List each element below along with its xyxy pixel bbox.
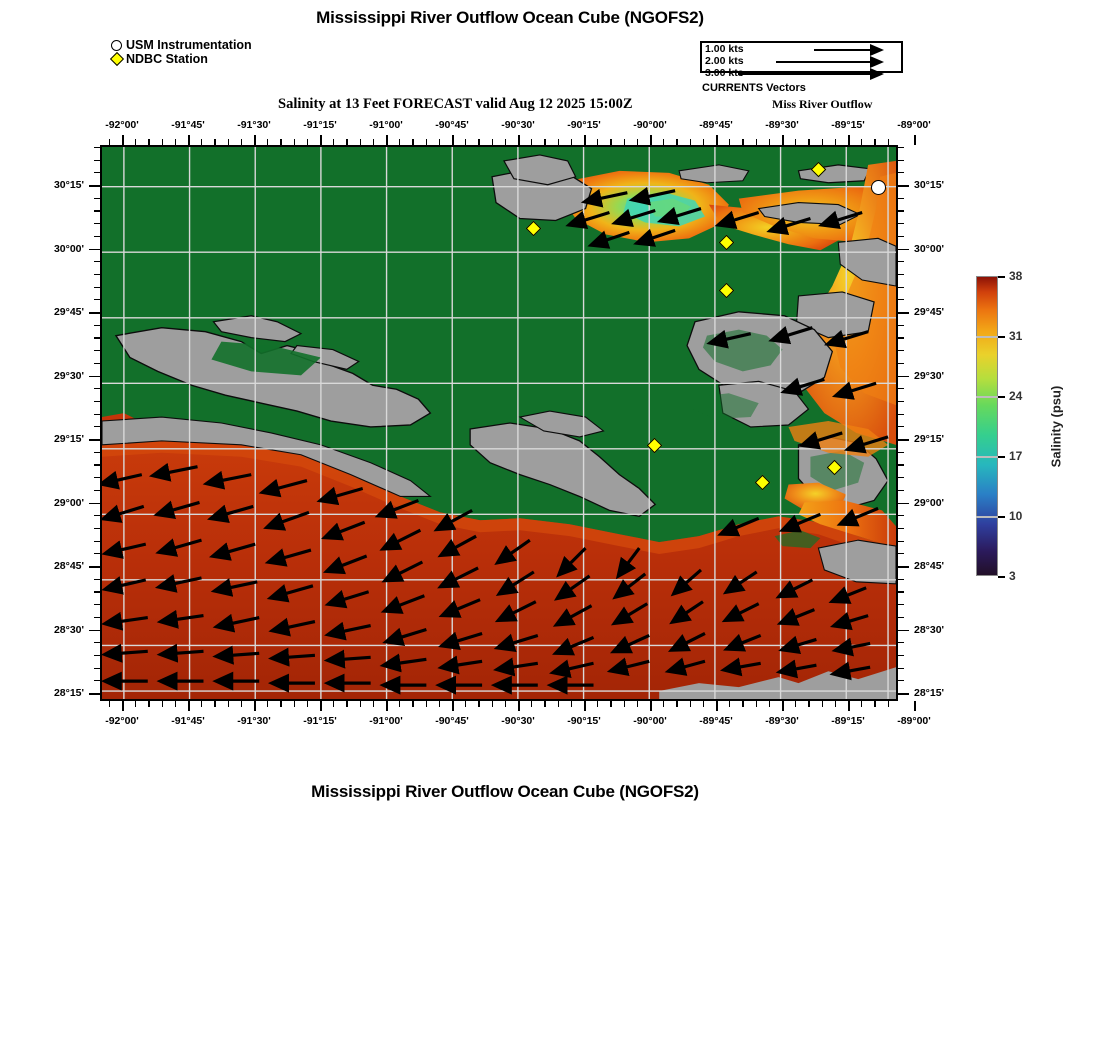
- axis-tick: [89, 439, 100, 441]
- axis-tick: [94, 414, 100, 415]
- axis-tick: [756, 139, 757, 145]
- colorbar-gradient: [976, 276, 998, 576]
- axis-tick: [89, 630, 100, 632]
- axis-tick: [898, 528, 904, 529]
- vector-shaft-1: [814, 49, 870, 51]
- axis-tick: [412, 139, 413, 145]
- axis-tick: [756, 701, 757, 707]
- circle-marker-icon: [110, 40, 123, 51]
- axis-label: -91°45': [171, 715, 205, 727]
- axis-label: -92°00': [105, 119, 139, 131]
- axis-tick: [558, 701, 559, 707]
- axis-tick: [94, 401, 100, 402]
- axis-tick: [94, 287, 100, 288]
- axis-tick: [898, 147, 904, 148]
- axis-tick: [94, 325, 100, 326]
- colorbar-tick-label: 38: [1009, 269, 1022, 283]
- axis-tick: [898, 642, 904, 643]
- axis-tick: [254, 701, 256, 711]
- axis-tick: [584, 135, 586, 145]
- axis-label: -91°30': [237, 119, 271, 131]
- axis-tick: [399, 701, 400, 707]
- vector-legend-caption: CURRENTS Vectors: [702, 82, 806, 94]
- axis-label: -89°45': [699, 119, 733, 131]
- axis-tick: [94, 490, 100, 491]
- axis-label: -92°00': [105, 715, 139, 727]
- axis-label: -91°00': [369, 715, 403, 727]
- axis-tick: [360, 701, 361, 707]
- axis-tick: [898, 299, 904, 300]
- colorbar-tick-label: 17: [1009, 449, 1022, 463]
- vector-arrowhead-2: [870, 56, 884, 68]
- axis-tick: [888, 139, 889, 145]
- axis-tick: [782, 701, 784, 711]
- axis-tick: [360, 139, 361, 145]
- axis-label: -90°00': [633, 715, 667, 727]
- axis-label: -89°00': [897, 119, 931, 131]
- axis-tick: [544, 139, 545, 145]
- axis-tick: [898, 249, 909, 251]
- axis-tick: [89, 376, 100, 378]
- axis-tick: [373, 701, 374, 707]
- colorbar-tick: [998, 516, 1005, 518]
- axis-tick: [597, 701, 598, 707]
- axis-tick: [320, 701, 322, 711]
- colorbar-tick-label: 3: [1009, 569, 1016, 583]
- axis-label: 28°45': [28, 560, 84, 572]
- axis-tick: [94, 350, 100, 351]
- axis-label: -89°15': [831, 119, 865, 131]
- axis-tick: [148, 139, 149, 145]
- vector-arrowhead-3: [870, 68, 884, 80]
- vector-legend-row-3: 3.00 kts: [702, 69, 901, 79]
- axis-label: -91°00': [369, 119, 403, 131]
- axis-tick: [94, 642, 100, 643]
- axis-tick: [898, 312, 909, 314]
- axis-label: 29°15': [914, 433, 944, 445]
- axis-label: -90°00': [633, 119, 667, 131]
- axis-label: -89°30': [765, 119, 799, 131]
- axis-label: -91°30': [237, 715, 271, 727]
- axis-tick: [89, 185, 100, 187]
- colorbar-tick: [998, 576, 1005, 578]
- axis-tick: [898, 414, 904, 415]
- axis-label: 28°15': [28, 687, 84, 699]
- axis-tick: [571, 701, 572, 707]
- axis-tick: [898, 566, 909, 568]
- axis-tick: [465, 139, 466, 145]
- legend-item-ndbc: NDBC Station: [110, 52, 252, 66]
- axis-tick: [558, 139, 559, 145]
- axis-tick: [188, 701, 190, 711]
- axis-tick: [201, 701, 202, 707]
- axis-tick: [898, 363, 904, 364]
- axis-tick: [94, 617, 100, 618]
- current-vector-legend: 1.00 kts 2.00 kts 3.00 kts: [700, 41, 903, 73]
- axis-tick: [94, 515, 100, 516]
- colorbar-title-text: Salinity (psu): [1049, 385, 1064, 467]
- axis-tick: [214, 139, 215, 145]
- vector-legend-row-1: 1.00 kts: [702, 45, 901, 55]
- axis-tick: [835, 701, 836, 707]
- axis-tick: [241, 139, 242, 145]
- axis-tick: [914, 135, 916, 145]
- axis-label: 29°00': [914, 497, 944, 509]
- axis-tick: [94, 198, 100, 199]
- axis-tick: [898, 198, 904, 199]
- axis-tick: [346, 701, 347, 707]
- axis-tick: [898, 210, 904, 211]
- axis-label: 29°45': [914, 306, 944, 318]
- axis-tick: [294, 701, 295, 707]
- legend-item-usm: USM Instrumentation: [110, 38, 252, 52]
- axis-tick: [716, 135, 718, 145]
- axis-tick: [898, 515, 904, 516]
- axis-tick: [109, 139, 110, 145]
- axis-tick: [267, 701, 268, 707]
- axis-tick: [898, 604, 904, 605]
- vector-shaft-3: [738, 73, 870, 75]
- axis-tick: [782, 135, 784, 145]
- legend-label-ndbc: NDBC Station: [126, 52, 208, 66]
- bottom-title: Mississippi River Outflow Ocean Cube (NG…: [0, 782, 1010, 802]
- axis-tick: [94, 680, 100, 681]
- axis-tick: [610, 701, 611, 707]
- axis-tick: [94, 274, 100, 275]
- colorbar-tick: [998, 396, 1005, 398]
- axis-tick: [898, 630, 909, 632]
- axis-tick: [89, 693, 100, 695]
- axis-label: -91°15': [303, 715, 337, 727]
- axis-tick: [162, 701, 163, 707]
- axis-tick: [898, 388, 904, 389]
- axis-tick: [898, 223, 904, 224]
- chart-subtitle: Salinity at 13 Feet FORECAST valid Aug 1…: [278, 96, 633, 113]
- axis-tick: [898, 464, 904, 465]
- axis-tick: [624, 139, 625, 145]
- axis-tick: [597, 139, 598, 145]
- axis-tick: [89, 566, 100, 568]
- axis-tick: [333, 139, 334, 145]
- axis-tick: [822, 139, 823, 145]
- axis-tick: [109, 701, 110, 707]
- axis-tick: [544, 701, 545, 707]
- axis-label: 28°30': [28, 624, 84, 636]
- axis-tick: [426, 139, 427, 145]
- axis-tick: [94, 541, 100, 542]
- axis-tick: [822, 701, 823, 707]
- axis-tick: [898, 655, 904, 656]
- axis-tick: [452, 701, 454, 711]
- vector-shaft-2: [776, 61, 870, 63]
- axis-tick: [769, 701, 770, 707]
- axis-tick: [571, 139, 572, 145]
- axis-tick: [898, 236, 904, 237]
- axis-tick: [452, 135, 454, 145]
- axis-tick: [861, 139, 862, 145]
- axis-tick: [135, 139, 136, 145]
- axis-tick: [898, 261, 904, 262]
- axis-tick: [742, 139, 743, 145]
- axis-tick: [898, 579, 904, 580]
- axis-tick: [703, 139, 704, 145]
- axis-label: -91°45': [171, 119, 205, 131]
- axis-label: -89°30': [765, 715, 799, 727]
- salinity-field-canvas: [102, 147, 896, 699]
- axis-tick: [94, 655, 100, 656]
- axis-tick: [89, 503, 100, 505]
- axis-label: 30°15': [28, 179, 84, 191]
- axis-tick: [94, 668, 100, 669]
- axis-tick: [518, 135, 520, 145]
- axis-tick: [307, 139, 308, 145]
- colorbar-gridline: [976, 396, 998, 398]
- axis-tick: [663, 701, 664, 707]
- axis-tick: [898, 591, 904, 592]
- axis-tick: [254, 135, 256, 145]
- page-title: Mississippi River Outflow Ocean Cube (NG…: [0, 8, 1020, 28]
- axis-tick: [650, 701, 652, 711]
- axis-tick: [874, 139, 875, 145]
- axis-tick: [898, 617, 904, 618]
- axis-tick: [478, 139, 479, 145]
- axis-label: -90°30': [501, 715, 535, 727]
- axis-tick: [294, 139, 295, 145]
- axis-tick: [465, 701, 466, 707]
- vector-legend-label-1: 1.00 kts: [705, 44, 744, 55]
- axis-tick: [94, 452, 100, 453]
- axis-tick: [690, 139, 691, 145]
- diamond-marker-icon: [110, 54, 123, 64]
- axis-tick: [898, 160, 904, 161]
- axis-tick: [94, 223, 100, 224]
- axis-tick: [690, 701, 691, 707]
- axis-tick: [148, 701, 149, 707]
- axis-label: -90°15': [567, 715, 601, 727]
- axis-tick: [518, 701, 520, 711]
- axis-tick: [228, 139, 229, 145]
- map-plot-area[interactable]: [100, 145, 898, 701]
- vector-legend-row-2: 2.00 kts: [702, 57, 901, 67]
- axis-tick: [848, 135, 850, 145]
- axis-tick: [505, 701, 506, 707]
- axis-tick: [584, 701, 586, 711]
- axis-tick: [898, 541, 904, 542]
- axis-tick: [914, 701, 916, 711]
- colorbar-tick-label: 10: [1009, 509, 1022, 523]
- axis-tick: [373, 139, 374, 145]
- axis-label: -89°45': [699, 715, 733, 727]
- axis-tick: [94, 261, 100, 262]
- axis-label: 30°00': [28, 243, 84, 255]
- axis-label: 30°15': [914, 179, 944, 191]
- axis-tick: [898, 274, 904, 275]
- axis-tick: [94, 591, 100, 592]
- axis-tick: [703, 701, 704, 707]
- axis-tick: [898, 401, 904, 402]
- axis-tick: [729, 701, 730, 707]
- axis-tick: [94, 388, 100, 389]
- colorbar-tick-label: 24: [1009, 389, 1022, 403]
- vector-legend-label-2: 2.00 kts: [705, 56, 744, 67]
- legend-label-usm: USM Instrumentation: [126, 38, 252, 52]
- axis-tick: [637, 701, 638, 707]
- axis-tick: [888, 701, 889, 707]
- axis-tick: [531, 701, 532, 707]
- axis-tick: [795, 701, 796, 707]
- axis-tick: [898, 452, 904, 453]
- axis-label: -89°00': [897, 715, 931, 727]
- axis-tick: [505, 139, 506, 145]
- axis-tick: [898, 680, 904, 681]
- axis-tick: [94, 579, 100, 580]
- axis-tick: [898, 337, 904, 338]
- axis-tick: [386, 135, 388, 145]
- axis-tick: [188, 135, 190, 145]
- axis-tick: [162, 139, 163, 145]
- axis-tick: [94, 147, 100, 148]
- axis-label: 29°45': [28, 306, 84, 318]
- axis-tick: [94, 337, 100, 338]
- axis-tick: [412, 701, 413, 707]
- axis-tick: [898, 426, 904, 427]
- axis-tick: [676, 139, 677, 145]
- axis-tick: [898, 693, 909, 695]
- axis-tick: [135, 701, 136, 707]
- axis-tick: [898, 350, 904, 351]
- axis-tick: [795, 139, 796, 145]
- axis-tick: [624, 701, 625, 707]
- axis-label: 29°15': [28, 433, 84, 445]
- axis-tick: [94, 464, 100, 465]
- axis-tick: [94, 553, 100, 554]
- axis-tick: [716, 701, 718, 711]
- axis-tick: [610, 139, 611, 145]
- axis-tick: [280, 139, 281, 145]
- axis-tick: [280, 701, 281, 707]
- axis-tick: [399, 139, 400, 145]
- axis-tick: [122, 135, 124, 145]
- colorbar-gridline: [976, 456, 998, 458]
- axis-label: -91°15': [303, 119, 337, 131]
- axis-label: 29°00': [28, 497, 84, 509]
- product-label: Miss River Outflow: [772, 97, 872, 112]
- axis-tick: [439, 139, 440, 145]
- axis-tick: [386, 701, 388, 711]
- axis-label: 30°00': [914, 243, 944, 255]
- axis-tick: [333, 701, 334, 707]
- axis-tick: [848, 701, 850, 711]
- axis-label: 28°45': [914, 560, 944, 572]
- axis-tick: [175, 701, 176, 707]
- colorbar-gridline: [976, 516, 998, 518]
- axis-tick: [175, 139, 176, 145]
- axis-tick: [267, 139, 268, 145]
- axis-tick: [94, 172, 100, 173]
- axis-tick: [94, 160, 100, 161]
- axis-tick: [769, 139, 770, 145]
- axis-label: -90°15': [567, 119, 601, 131]
- axis-tick: [94, 363, 100, 364]
- axis-tick: [898, 172, 904, 173]
- axis-label: -90°45': [435, 715, 469, 727]
- axis-tick: [94, 604, 100, 605]
- axis-tick: [898, 287, 904, 288]
- axis-tick: [808, 139, 809, 145]
- axis-tick: [650, 135, 652, 145]
- axis-tick: [808, 701, 809, 707]
- axis-label: -90°30': [501, 119, 535, 131]
- axis-tick: [122, 701, 124, 711]
- axis-tick: [898, 490, 904, 491]
- axis-tick: [426, 701, 427, 707]
- axis-label: -89°15': [831, 715, 865, 727]
- axis-tick: [307, 701, 308, 707]
- axis-tick: [478, 701, 479, 707]
- axis-label: 28°15': [914, 687, 944, 699]
- axis-label: 29°30': [28, 370, 84, 382]
- colorbar-title: Salinity (psu): [1047, 276, 1065, 576]
- axis-tick: [676, 701, 677, 707]
- axis-tick: [94, 236, 100, 237]
- axis-tick: [241, 701, 242, 707]
- axis-tick: [346, 139, 347, 145]
- axis-tick: [898, 325, 904, 326]
- axis-tick: [898, 668, 904, 669]
- axis-tick: [492, 701, 493, 707]
- axis-tick: [898, 553, 904, 554]
- axis-tick: [637, 139, 638, 145]
- axis-tick: [729, 139, 730, 145]
- axis-tick: [94, 299, 100, 300]
- axis-label: 29°30': [914, 370, 944, 382]
- axis-tick: [898, 376, 909, 378]
- axis-tick: [94, 426, 100, 427]
- axis-tick: [94, 477, 100, 478]
- colorbar-gridline: [976, 336, 998, 338]
- usm-instrumentation-marker[interactable]: [871, 180, 886, 195]
- axis-tick: [89, 312, 100, 314]
- colorbar-tick: [998, 456, 1005, 458]
- axis-tick: [835, 139, 836, 145]
- colorbar-tick-label: 31: [1009, 329, 1022, 343]
- axis-label: 28°30': [914, 624, 944, 636]
- axis-tick: [439, 701, 440, 707]
- axis-tick: [201, 139, 202, 145]
- axis-tick: [663, 139, 664, 145]
- marker-legend: USM Instrumentation NDBC Station: [110, 38, 252, 66]
- axis-tick: [492, 139, 493, 145]
- axis-tick: [320, 135, 322, 145]
- axis-tick: [742, 701, 743, 707]
- axis-tick: [898, 503, 909, 505]
- axis-tick: [531, 139, 532, 145]
- axis-tick: [898, 185, 909, 187]
- axis-tick: [861, 701, 862, 707]
- colorbar-tick: [998, 336, 1005, 338]
- axis-tick: [874, 701, 875, 707]
- vector-arrowhead-1: [870, 44, 884, 56]
- axis-tick: [898, 477, 904, 478]
- axis-tick: [89, 249, 100, 251]
- axis-tick: [214, 701, 215, 707]
- axis-tick: [94, 210, 100, 211]
- colorbar-tick: [998, 276, 1005, 278]
- axis-tick: [898, 439, 909, 441]
- axis-tick: [94, 528, 100, 529]
- axis-label: -90°45': [435, 119, 469, 131]
- axis-tick: [228, 701, 229, 707]
